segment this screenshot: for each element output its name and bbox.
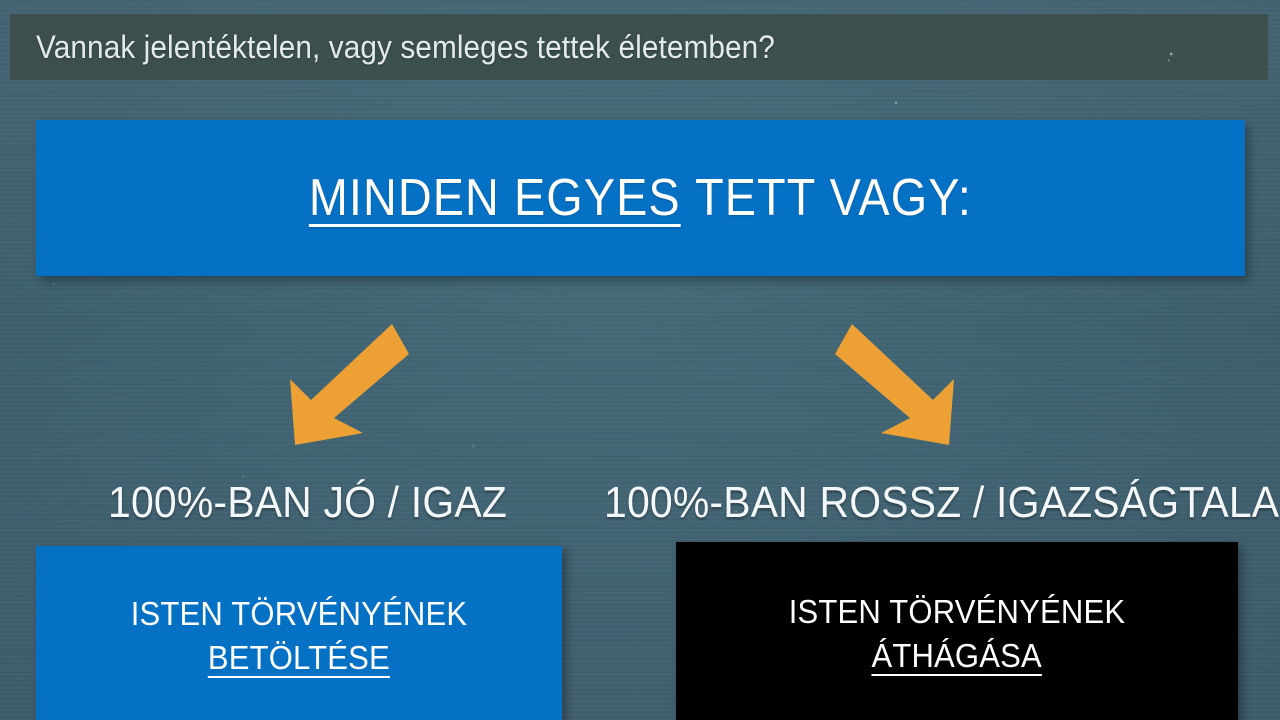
arrow-down-right-icon [828, 318, 968, 448]
outcome-box-transgression: ISTEN TÖRVÉNYÉNEK ÁTHÁGÁSA [676, 542, 1238, 720]
branch-label-left: 100%-BAN JÓ / IGAZ [108, 478, 507, 528]
slide-canvas: Vannak jelentéktelen, vagy semleges tett… [0, 0, 1280, 720]
page-title: Vannak jelentéktelen, vagy semleges tett… [10, 29, 775, 66]
arrow-down-left-icon [276, 318, 416, 448]
outcome-box-right-line1: ISTEN TÖRVÉNYÉNEK [789, 590, 1125, 634]
banner-underlined-text: MINDEN EGYES [309, 169, 681, 227]
outcome-box-right-line2: ÁTHÁGÁSA [872, 634, 1042, 678]
branch-label-right: 100%-BAN ROSSZ / IGAZSÁGTALAN [604, 478, 1280, 528]
main-statement-banner: MINDEN EGYESTETT VAGY: [36, 120, 1245, 276]
outcome-box-left-line2: BETÖLTÉSE [208, 636, 390, 680]
banner-plain-text: TETT VAGY: [695, 169, 972, 227]
banner-text: MINDEN EGYESTETT VAGY: [309, 168, 972, 228]
outcome-box-left-line1: ISTEN TÖRVÉNYÉNEK [131, 592, 467, 636]
outcome-box-fulfillment: ISTEN TÖRVÉNYÉNEK BETÖLTÉSE [36, 546, 562, 720]
slide-title-bar: Vannak jelentéktelen, vagy semleges tett… [10, 14, 1268, 80]
